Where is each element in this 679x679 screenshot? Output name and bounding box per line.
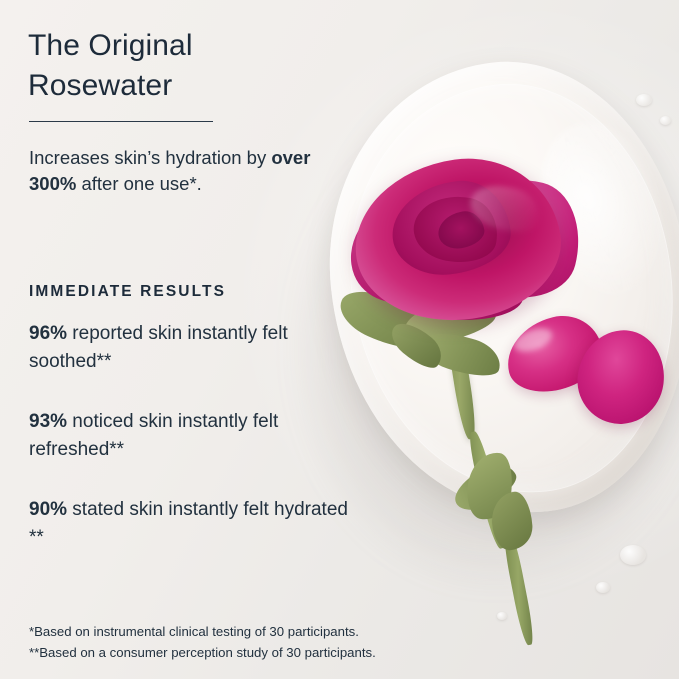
stat-text: stated skin instantly felt hydrated ** [29, 499, 348, 548]
stat-percent: 96% [29, 323, 67, 344]
page-title-line1: The Original [28, 29, 193, 62]
product-claims-image: The Original Rosewater Increases skin’s … [0, 0, 679, 679]
stat-row: 96% reported skin instantly felt soothed… [29, 320, 359, 375]
water-droplet [596, 582, 610, 593]
water-droplet [497, 612, 507, 620]
stat-row: 90% stated skin instantly felt hydrated … [29, 496, 359, 551]
stat-text: noticed skin instantly felt refreshed** [29, 411, 278, 460]
footnote-consumer: **Based on a consumer perception study o… [29, 642, 459, 663]
hydration-claim: Increases skin’s hydration by over 300% … [29, 145, 349, 198]
section-label-immediate-results: IMMEDIATE RESULTS [29, 283, 226, 301]
text-column: The Original Rosewater Increases skin’s … [0, 0, 360, 679]
water-droplet [620, 545, 646, 565]
stat-text: reported skin instantly felt soothed** [29, 323, 288, 372]
stat-percent: 90% [29, 499, 67, 520]
water-droplet [660, 116, 671, 125]
title-divider [29, 121, 213, 122]
stat-row: 93% noticed skin instantly felt refreshe… [29, 408, 359, 463]
water-droplet [636, 94, 652, 106]
stat-percent: 93% [29, 411, 67, 432]
page-title: The Original Rosewater [28, 26, 328, 106]
footnotes: *Based on instrumental clinical testing … [29, 621, 459, 663]
footnote-clinical: *Based on instrumental clinical testing … [29, 621, 459, 642]
hydration-claim-lead: Increases skin’s hydration by [29, 147, 271, 168]
hydration-claim-trail: after one use*. [76, 173, 201, 194]
page-title-line2: Rosewater [28, 69, 172, 102]
